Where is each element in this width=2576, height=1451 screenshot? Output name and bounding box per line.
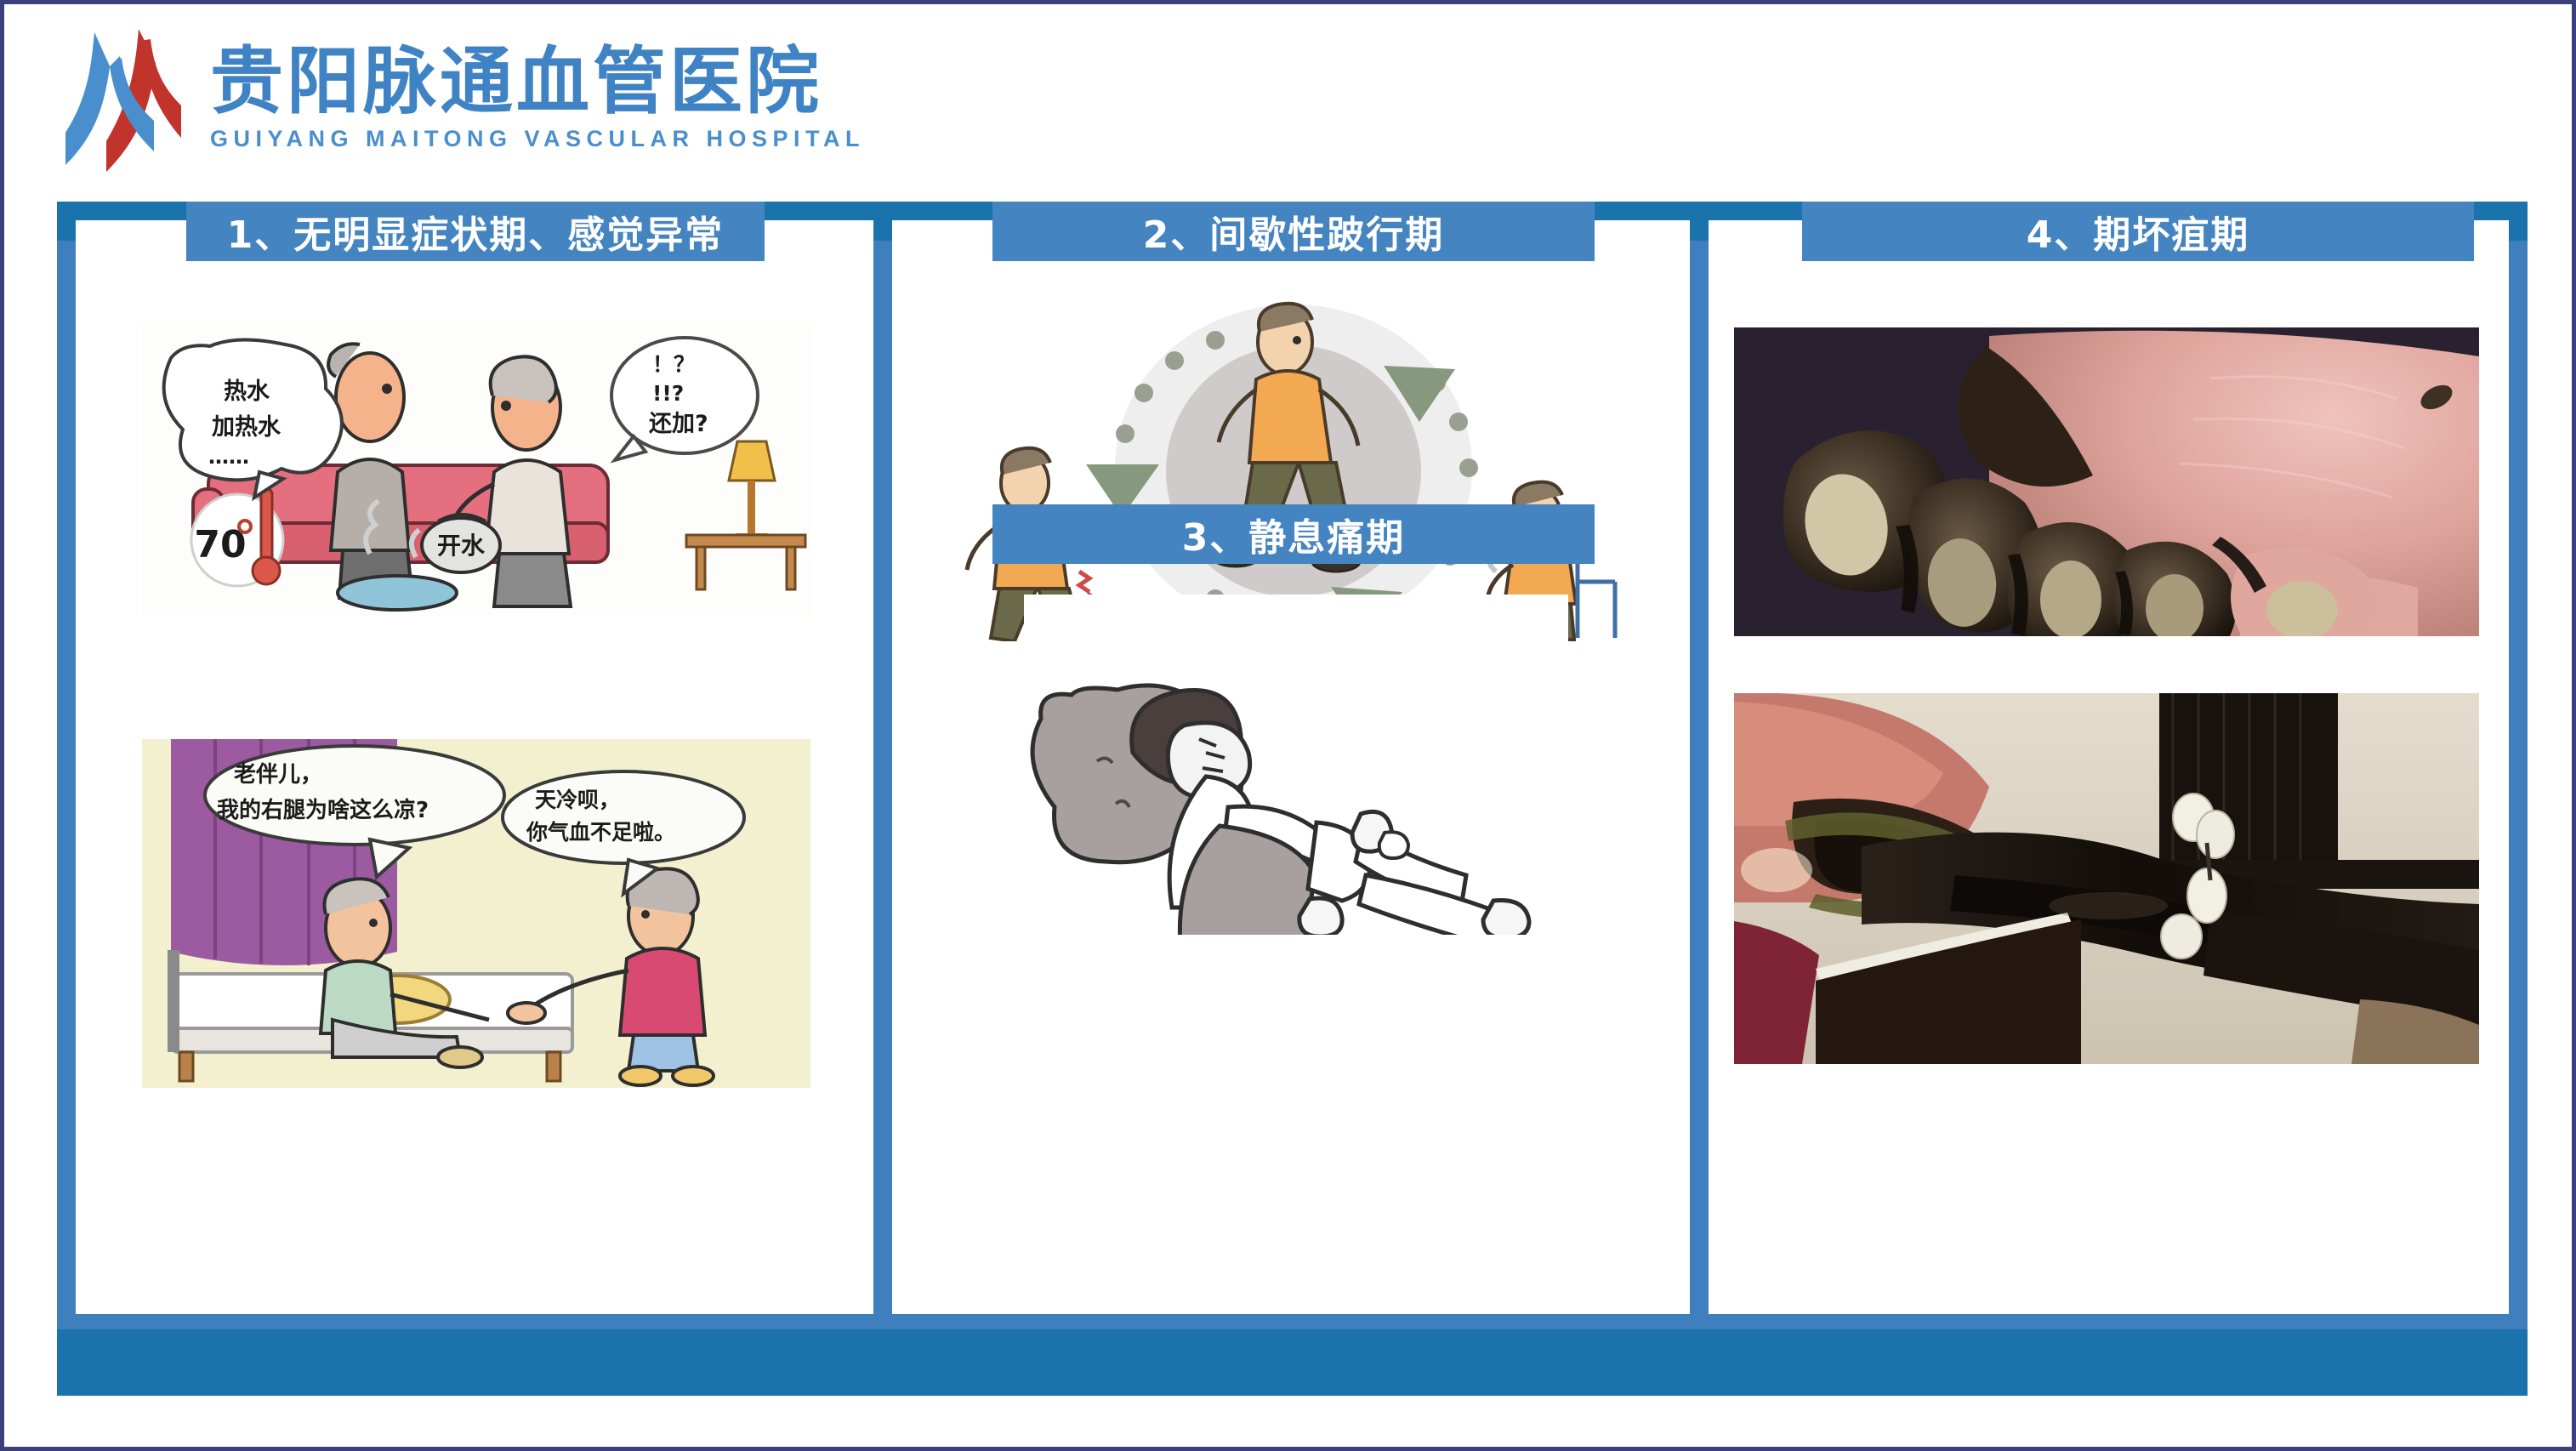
section-title-stage-4: 4、期坏疽期 (1802, 202, 2474, 261)
hot-water-foot-soak-cartoon: 70 (142, 322, 810, 616)
svg-text:加热水: 加热水 (212, 414, 281, 441)
section-title-stage-1-label: 1、无明显症状期、感觉异常 (227, 204, 725, 259)
hospital-logo-icon (57, 22, 185, 175)
svg-text:你气血不足啦。: 你气血不足啦。 (526, 820, 675, 845)
column-stage-2-3: 2、间歇性跛行期 (892, 220, 1690, 1314)
column-stage-4: 4、期坏疽期 (1709, 220, 2509, 1314)
section-title-stage-2: 2、间歇性跛行期 (992, 202, 1595, 261)
hospital-name-block: 贵阳脉通血管医院 GUIYANG MAITONG VASCULAR HOSPIT… (210, 45, 865, 153)
hospital-name-cn: 贵阳脉通血管医院 (210, 45, 865, 120)
section-title-stage-2-label: 2、间歇性跛行期 (1143, 204, 1445, 259)
svg-text:老伴儿，: 老伴儿， (234, 762, 322, 788)
svg-text:开水: 开水 (437, 532, 486, 560)
svg-text:热水: 热水 (224, 378, 270, 405)
section-title-stage-3: 3、静息痛期 (992, 504, 1595, 564)
poster-page: 贵阳脉通血管医院 GUIYANG MAITONG VASCULAR HOSPIT… (0, 0, 2576, 1451)
hospital-header: 贵阳脉通血管医院 GUIYANG MAITONG VASCULAR HOSPIT… (4, 4, 2572, 193)
cold-leg-bedroom-cartoon: 老伴儿， 我的右腿为啥这么凉? 天冷呗， 你气血不足啦。 (142, 739, 810, 1088)
svg-text:!!?: !!? (652, 381, 684, 406)
column-stage-1: 1、无明显症状期、感觉异常 (76, 220, 873, 1314)
svg-text:天冷呗，: 天冷呗， (535, 788, 620, 812)
content-frame: 1、无明显症状期、感觉异常 (57, 202, 2528, 1396)
rest-pain-lying-cartoon (1024, 595, 1568, 935)
frame-bottom-band (57, 1329, 2528, 1396)
columns-container: 1、无明显症状期、感觉异常 (76, 220, 2509, 1314)
svg-text:！？: ！？ (652, 352, 695, 377)
svg-text:我的右腿为啥这么凉?: 我的右腿为啥这么凉? (217, 797, 429, 823)
svg-text:……: …… (208, 445, 249, 469)
section-title-stage-1: 1、无明显症状期、感觉异常 (186, 202, 765, 261)
intermittent-claudication-cycle-cartoon (960, 301, 1624, 641)
hospital-name-en: GUIYANG MAITONG VASCULAR HOSPITAL (210, 126, 865, 152)
section-title-stage-3-label: 3、静息痛期 (1182, 507, 1406, 561)
svg-text:还加?: 还加? (649, 411, 708, 437)
gangrene-lower-leg-clinical-photo (1734, 693, 2479, 1064)
gangrene-toes-clinical-photo (1734, 327, 2479, 636)
section-title-stage-4-label: 4、期坏疽期 (2027, 204, 2250, 259)
